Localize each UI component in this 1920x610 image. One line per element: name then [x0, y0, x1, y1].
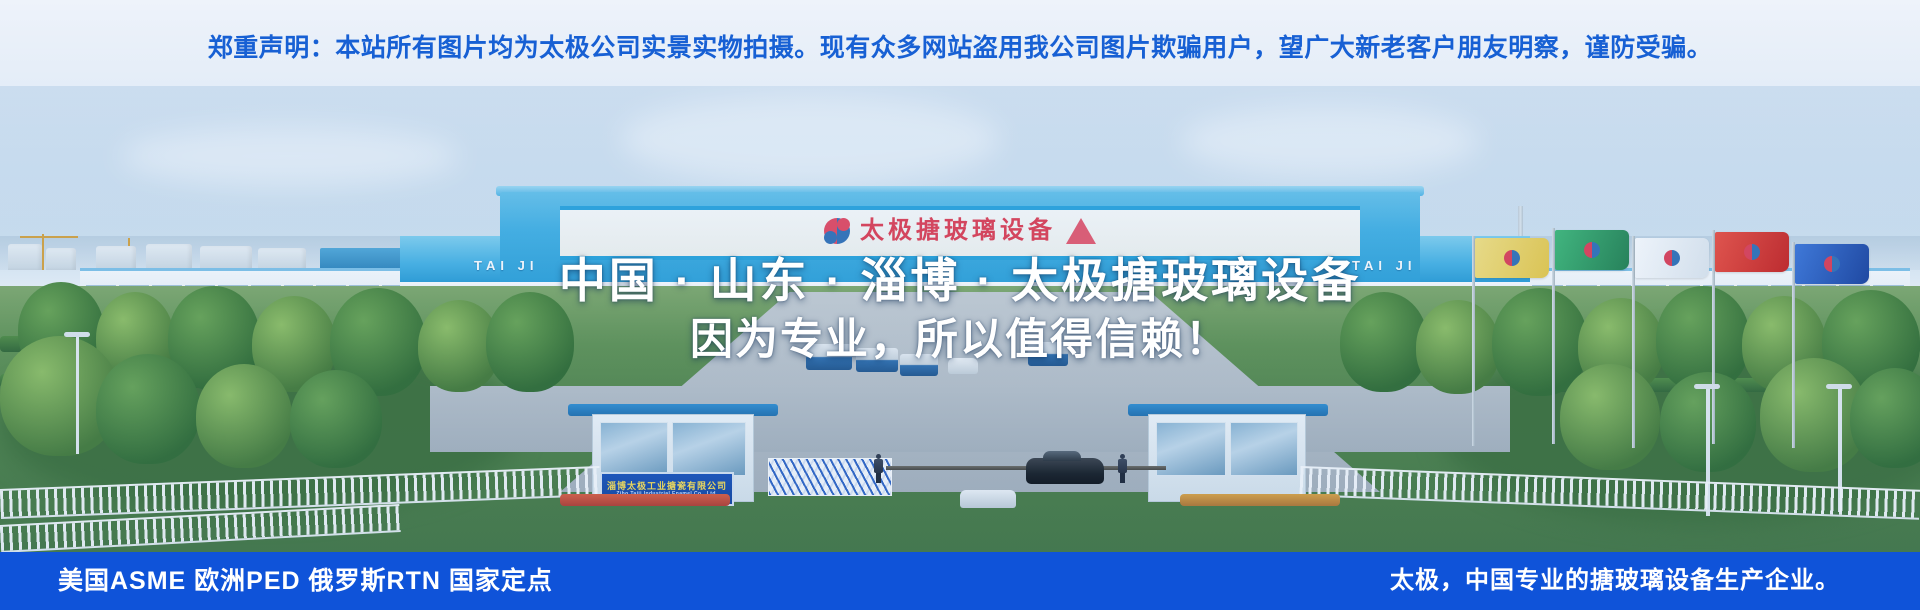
- black-sedan: [1026, 458, 1104, 484]
- tree: [196, 364, 292, 468]
- tree: [486, 292, 574, 392]
- storage-tank: [146, 244, 192, 270]
- flag-yellow: [1475, 238, 1549, 278]
- guard-body: [1118, 459, 1127, 473]
- security-guard: [874, 454, 883, 484]
- flag-white: [1635, 238, 1709, 278]
- lamp-head: [1826, 384, 1852, 389]
- storage-tank: [200, 246, 252, 270]
- lamp-head: [1694, 384, 1720, 389]
- taiji-icon: [1504, 250, 1520, 266]
- taiji-icon: [1584, 242, 1600, 258]
- storage-tank: [46, 248, 76, 270]
- guard-body: [874, 459, 883, 473]
- cloud: [120, 126, 460, 186]
- guard-legs: [876, 473, 881, 483]
- red-arrow-icon: [1066, 218, 1096, 244]
- tree: [290, 370, 382, 468]
- taiji-icon: [824, 218, 850, 244]
- tree: [96, 354, 200, 464]
- building-sign: 太极搪玻璃设备: [790, 214, 1130, 248]
- tree: [1416, 300, 1500, 394]
- blue-tank: [320, 248, 406, 270]
- bus: [1028, 342, 1068, 366]
- car-white: [948, 358, 978, 374]
- building-latin-right: TAI JI: [1352, 259, 1416, 272]
- crane: [42, 234, 44, 270]
- tree: [1340, 292, 1428, 392]
- flower-bed: [1180, 494, 1340, 506]
- certification-text: 美国ASME 欧洲PED 俄罗斯RTN 国家定点: [58, 552, 553, 610]
- guard-house-window: [1156, 422, 1226, 476]
- slogan-text: 太极，中国专业的搪玻璃设备生产企业。: [1390, 552, 1840, 610]
- factory-photo: 太极搪玻璃设备 TAI JI TAI JI: [0, 86, 1920, 552]
- flag-green: [1555, 230, 1629, 270]
- bus: [900, 354, 938, 376]
- guard-legs: [1120, 473, 1125, 483]
- storage-tank: [258, 248, 306, 270]
- guard-house-window: [1230, 422, 1298, 476]
- car-white: [960, 490, 1016, 508]
- crane: [20, 236, 78, 238]
- cloud: [1180, 106, 1480, 176]
- security-guard: [1118, 454, 1127, 484]
- storage-tank: [8, 244, 42, 270]
- taiji-icon: [1664, 250, 1680, 266]
- notice-text: 郑重声明：本站所有图片均为太极公司实景实物拍摄。现有众多网站盗用我公司图片欺骗用…: [208, 26, 1713, 61]
- certification-bar: 美国ASME 欧洲PED 俄罗斯RTN 国家定点 太极，中国专业的搪玻璃设备生产…: [0, 552, 1920, 610]
- flag-blue: [1795, 244, 1869, 284]
- flower-bed: [560, 494, 730, 506]
- building-sign-text: 太极搪玻璃设备: [860, 219, 1056, 243]
- gate-sign-cn: 淄博太极工业搪瓷有限公司: [607, 482, 727, 491]
- guard-house-window: [600, 422, 668, 476]
- taiji-icon: [1824, 256, 1840, 272]
- storage-tank: [96, 246, 136, 270]
- banner-page: 郑重声明：本站所有图片均为太极公司实景实物拍摄。现有众多网站盗用我公司图片欺骗用…: [0, 0, 1920, 610]
- bus: [856, 348, 898, 372]
- lamp-head: [64, 332, 90, 337]
- building-latin-left: TAI JI: [474, 259, 538, 272]
- notice-banner: 郑重声明：本站所有图片均为太极公司实景实物拍摄。现有众多网站盗用我公司图片欺骗用…: [0, 0, 1920, 86]
- guard-house-window: [672, 422, 746, 476]
- bus: [806, 344, 852, 370]
- flag-red: [1715, 232, 1789, 272]
- lamp-post: [76, 334, 79, 454]
- cloud: [620, 94, 1000, 184]
- tree: [1560, 364, 1660, 470]
- taiji-icon: [1744, 244, 1760, 260]
